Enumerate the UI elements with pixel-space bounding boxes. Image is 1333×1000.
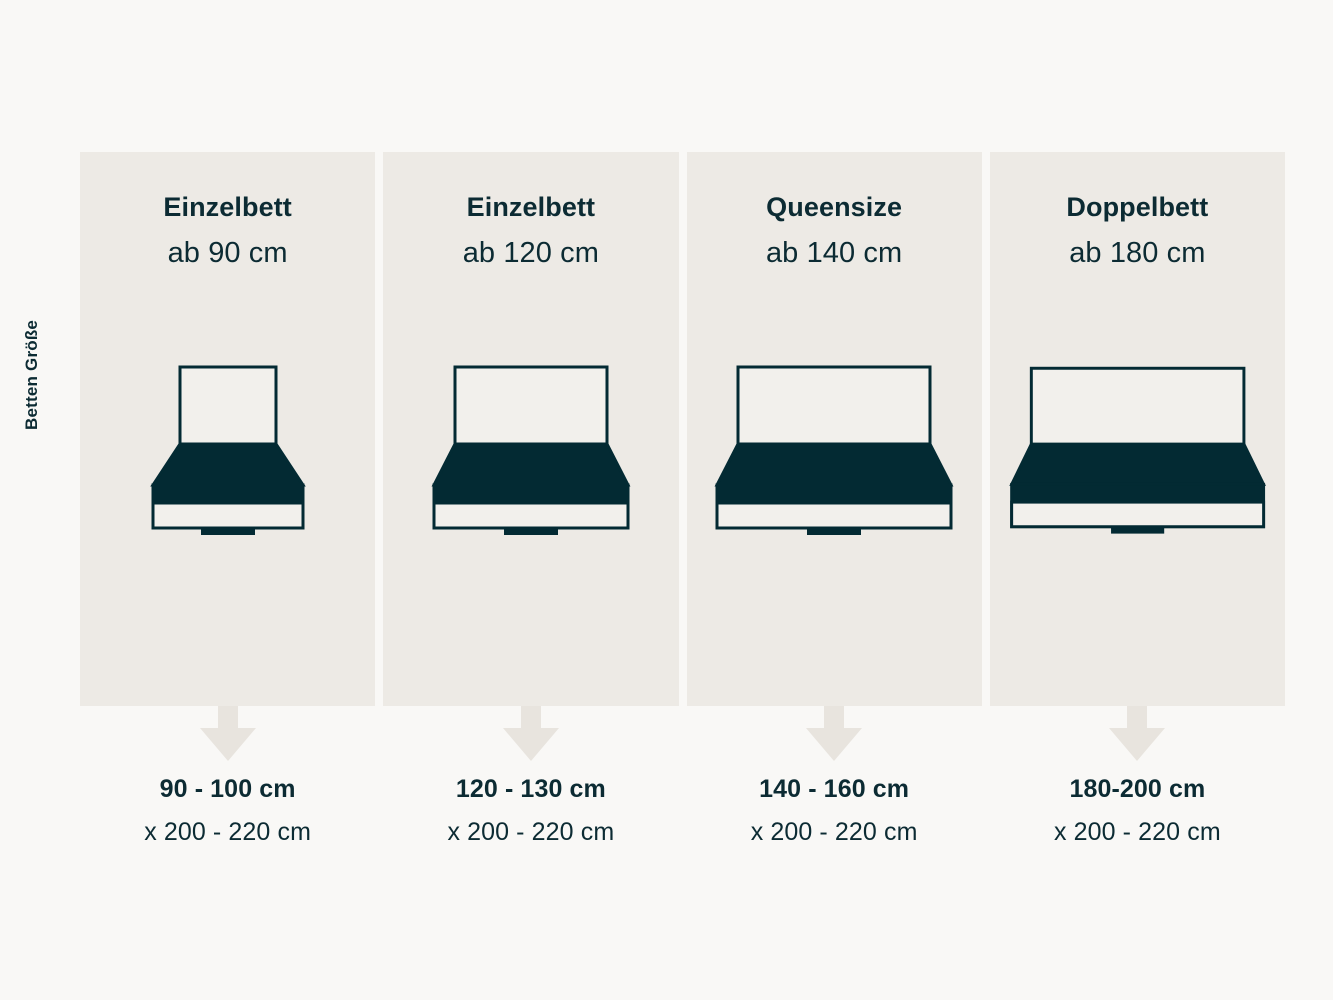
axis-label-container: Betten Größe [0,0,80,1000]
bed-icon [990,357,1285,537]
arrow-down-icon [199,706,257,762]
caption-length: x 200 - 220 cm [80,818,375,847]
bed-illustration-container [80,357,375,537]
caption-width: 140 - 160 cm [687,775,982,804]
panel-subtitle: ab 180 cm [1069,237,1205,270]
arrow-down-icon [502,706,560,762]
arrow-down-icon [805,706,863,762]
bed-size-panel-4: Doppelbett ab 180 cm [990,152,1285,706]
caption-width: 120 - 130 cm [383,775,678,804]
panel-subtitle: ab 140 cm [766,237,902,270]
caption-cell-1: 90 - 100 cm x 200 - 220 cm [80,775,375,847]
bed-icon [411,357,651,537]
bed-illustration-container [687,357,982,537]
caption-width: 90 - 100 cm [80,775,375,804]
bed-size-panel-2: Einzelbett ab 120 cm [383,152,678,706]
panel-title: Einzelbett [467,192,596,223]
caption-cell-4: 180-200 cm x 200 - 220 cm [990,775,1285,847]
bed-size-panel-1: Einzelbett ab 90 cm [80,152,375,706]
caption-cell-2: 120 - 130 cm x 200 - 220 cm [383,775,678,847]
caption-cell-3: 140 - 160 cm x 200 - 220 cm [687,775,982,847]
bed-icon [694,357,974,537]
arrow-down-icon [1108,706,1166,762]
arrow-cell-4 [990,706,1285,762]
bed-illustration-container [990,357,1285,537]
axis-label-betten-groesse: Betten Größe [22,320,42,430]
bed-size-panel-3: Queensize ab 140 cm [687,152,982,706]
panel-title: Doppelbett [1066,192,1208,223]
panel-subtitle: ab 120 cm [463,237,599,270]
caption-length: x 200 - 220 cm [383,818,678,847]
bed-icon [133,357,323,537]
caption-length: x 200 - 220 cm [990,818,1285,847]
arrow-cell-1 [80,706,375,762]
bed-illustration-container [383,357,678,537]
caption-length: x 200 - 220 cm [687,818,982,847]
panel-title: Queensize [766,192,902,223]
caption-width: 180-200 cm [990,775,1285,804]
panel-title: Einzelbett [163,192,292,223]
bed-size-panel-row: Einzelbett ab 90 cm Einzelbett ab 120 cm [80,152,1285,706]
arrow-cell-3 [687,706,982,762]
arrow-row [80,706,1285,762]
panel-subtitle: ab 90 cm [168,237,288,270]
arrow-cell-2 [383,706,678,762]
caption-row: 90 - 100 cm x 200 - 220 cm 120 - 130 cm … [80,775,1285,847]
